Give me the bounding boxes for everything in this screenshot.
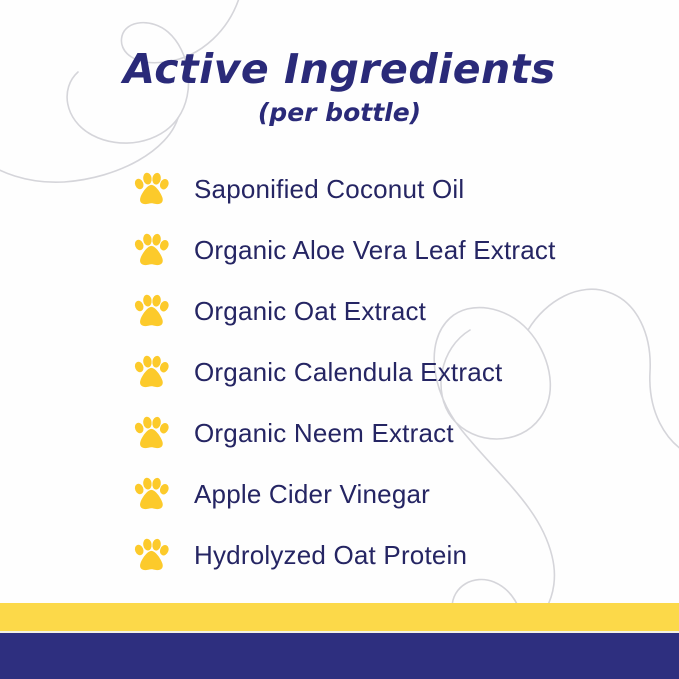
paw-print-icon: [133, 538, 169, 572]
paw-print-icon: [133, 416, 169, 450]
page-subtitle: (per bottle): [0, 99, 679, 128]
ingredients-panel: Active Ingredients (per bottle) Saponifi…: [0, 0, 679, 679]
footer-band-yellow: [0, 603, 679, 631]
list-item: Organic Calendula Extract: [133, 341, 653, 402]
ingredient-list: Saponified Coconut Oil Organic Aloe Vera…: [133, 158, 653, 585]
list-item: Apple Cider Vinegar: [133, 463, 653, 524]
list-item: Saponified Coconut Oil: [133, 158, 653, 219]
ingredient-label: Apple Cider Vinegar: [194, 481, 430, 507]
paw-print-icon: [133, 172, 169, 206]
list-item: Organic Oat Extract: [133, 280, 653, 341]
ingredient-label: Hydrolyzed Oat Protein: [194, 542, 467, 568]
paw-print-icon: [133, 477, 169, 511]
ingredient-label: Organic Neem Extract: [194, 420, 454, 446]
ingredient-label: Organic Aloe Vera Leaf Extract: [194, 237, 556, 263]
page-title: Active Ingredients: [0, 48, 679, 91]
ingredient-label: Organic Calendula Extract: [194, 359, 502, 385]
footer-band-navy: [0, 633, 679, 679]
paw-print-icon: [133, 355, 169, 389]
list-item: Organic Aloe Vera Leaf Extract: [133, 219, 653, 280]
ingredient-label: Organic Oat Extract: [194, 298, 426, 324]
list-item: Hydrolyzed Oat Protein: [133, 524, 653, 585]
paw-print-icon: [133, 294, 169, 328]
list-item: Organic Neem Extract: [133, 402, 653, 463]
ingredient-label: Saponified Coconut Oil: [194, 176, 464, 202]
paw-print-icon: [133, 233, 169, 267]
